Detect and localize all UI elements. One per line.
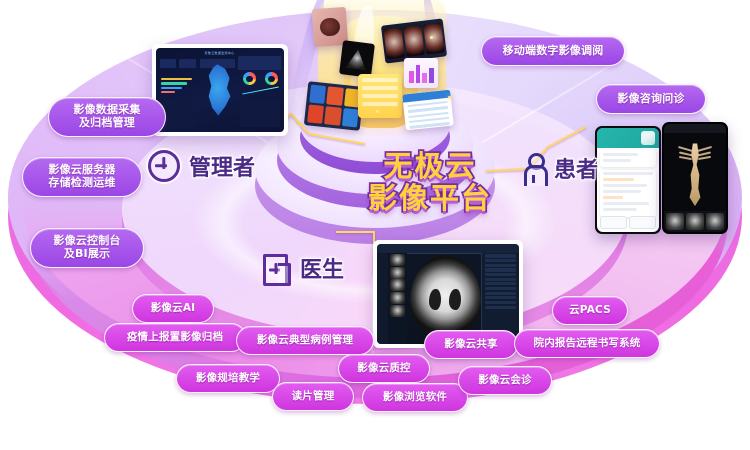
sparkle [448,96,451,99]
label-doctor-2[interactable]: 影像云典型病例管理 [236,326,374,355]
label-admin-1[interactable]: 影像云服务器 存储检测运维 [22,157,142,197]
thumb-ultrasound [339,40,375,78]
role-admin-label: 管理者 [189,150,255,182]
label-doctor-8[interactable]: 影像云会诊 [458,366,552,395]
role-patient-label: 患者 [554,152,598,184]
sparkle [330,60,333,63]
role-admin[interactable]: 管理者 [148,150,255,182]
sparkle [430,36,433,39]
sparkle [376,110,379,113]
label-patient-0[interactable]: 移动端数字影像调阅 [481,36,625,66]
label-doctor-7[interactable]: 影像云共享 [424,330,518,359]
label-doctor-5[interactable]: 影像云质控 [338,354,430,383]
hospital-cross-icon [263,254,291,282]
label-patient-1[interactable]: 影像咨询问诊 [596,84,706,114]
circle-plus-icon [148,150,180,182]
device-phone-viewer[interactable] [662,122,728,234]
device-bi-dashboard[interactable]: 影像云数据监测中心 [152,44,288,136]
label-doctor-1[interactable]: 疫情上报置影像归档 [104,323,246,352]
platform-title-line1: 无极云 [383,149,476,183]
infographic-canvas: 影像云数据监测中心 [0,0,750,450]
role-doctor-label: 医生 [300,252,344,284]
label-doctor-0[interactable]: 影像云AI [132,294,214,323]
platform-title-line2: 影像平台 [330,182,530,214]
platform-title: 无极云 影像平台 [330,150,530,215]
label-doctor-10[interactable]: 院内报告远程书写系统 [514,329,660,358]
label-doctor-4[interactable]: 读片管理 [272,382,354,411]
thumb-report-list [402,90,454,131]
role-patient[interactable]: 患者 [521,152,598,184]
label-admin-2[interactable]: 影像云控制台 及BI展示 [30,228,144,268]
label-doctor-9[interactable]: 云PACS [552,296,628,325]
label-admin-0[interactable]: 影像数据采集 及归档管理 [48,97,166,137]
thumb-mri-series [381,18,447,63]
label-doctor-6[interactable]: 影像浏览软件 [362,383,468,412]
label-doctor-3[interactable]: 影像规培教学 [176,364,280,393]
device-phone-consult[interactable] [595,126,661,234]
role-doctor[interactable]: 医生 [263,252,344,284]
thumb-bar-chart [404,58,438,88]
